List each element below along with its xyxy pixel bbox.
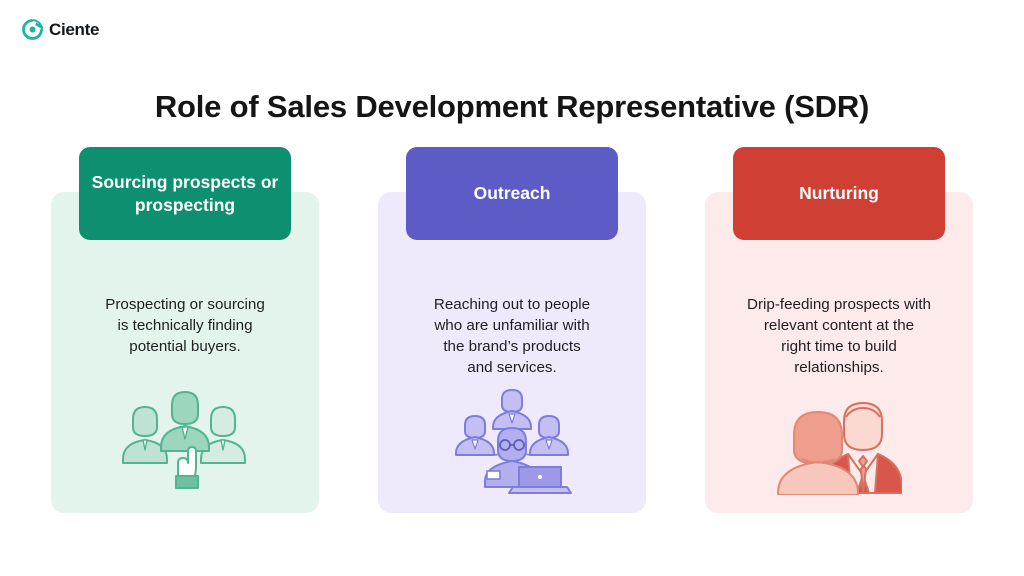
card-description: Drip-feeding prospects with relevant con… bbox=[705, 295, 973, 379]
card-header-sourcing: Sourcing prospects or prospecting bbox=[79, 147, 291, 240]
card-body-sourcing: Prospecting or sourcing is technically f… bbox=[51, 192, 319, 513]
page-title: Role of Sales Development Representative… bbox=[0, 89, 1024, 125]
cards-row: Prospecting or sourcing is technically f… bbox=[0, 147, 1024, 513]
card-body-outreach: Reaching out to people who are unfamilia… bbox=[378, 192, 646, 513]
card-nurturing: Drip-feeding prospects with relevant con… bbox=[705, 147, 973, 513]
card-header-nurturing: Nurturing bbox=[733, 147, 945, 240]
three-people-pointing-hand-icon bbox=[51, 377, 319, 495]
two-people-facing-icon bbox=[705, 377, 973, 495]
card-description: Prospecting or sourcing is technically f… bbox=[51, 295, 319, 358]
card-sourcing: Prospecting or sourcing is technically f… bbox=[51, 147, 319, 513]
card-body-nurturing: Drip-feeding prospects with relevant con… bbox=[705, 192, 973, 513]
card-header-outreach: Outreach bbox=[406, 147, 618, 240]
brand-name: Ciente bbox=[49, 21, 99, 38]
ciente-c-mark-icon bbox=[22, 19, 43, 40]
network-person-laptop-icon bbox=[378, 377, 646, 495]
card-description: Reaching out to people who are unfamilia… bbox=[378, 295, 646, 379]
brand-logo: Ciente bbox=[22, 19, 99, 40]
card-outreach: Reaching out to people who are unfamilia… bbox=[378, 147, 646, 513]
